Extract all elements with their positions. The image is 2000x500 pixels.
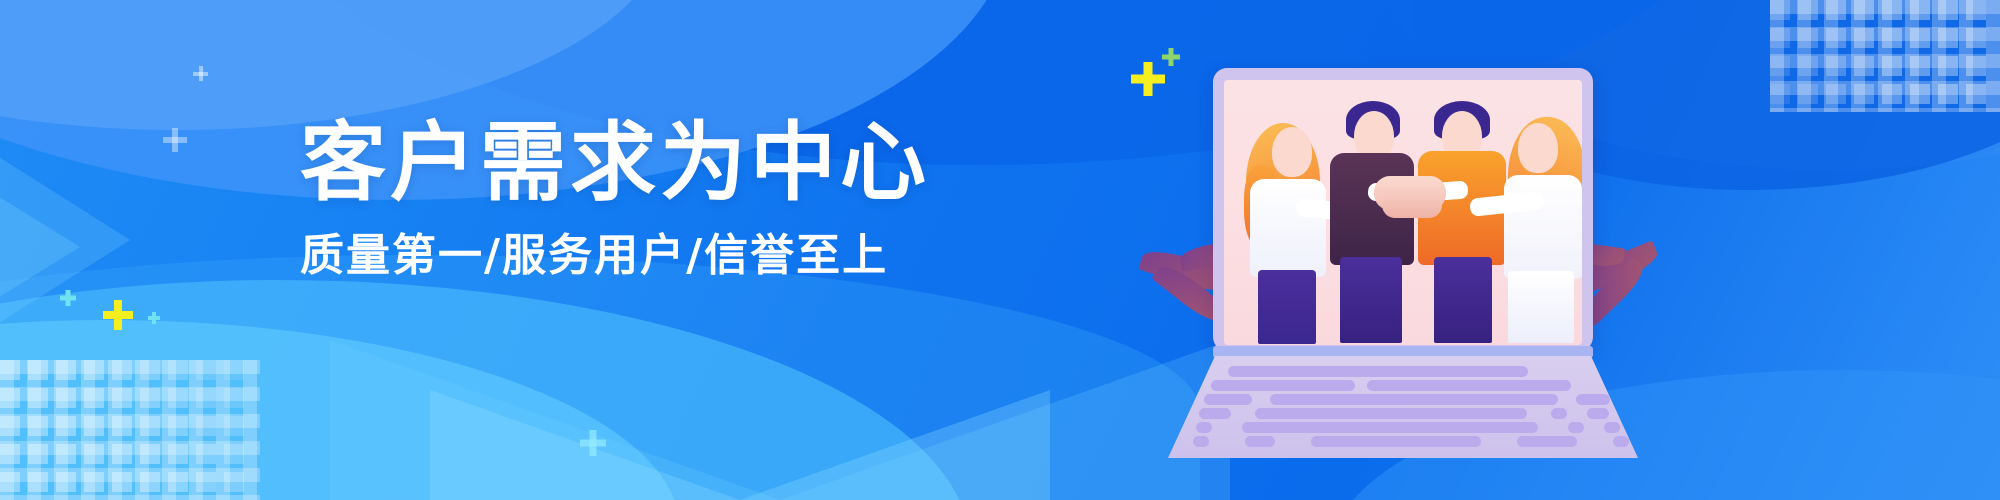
plus-green-laptop-small-icon [1162, 48, 1180, 66]
keyboard-key [1587, 408, 1609, 419]
keyboard-key [1551, 408, 1567, 419]
person-man-dark-shirt [1322, 95, 1426, 345]
plus-yellow-large-left-icon [103, 300, 133, 330]
keyboard-key [1270, 394, 1558, 405]
keyboard-key [1367, 380, 1571, 391]
headline-text: 客户需求为中心 [300, 120, 930, 206]
plus-cyan-tiny-left-icon [148, 312, 160, 324]
laptop-keyboard [1168, 356, 1638, 458]
person-woman-blonde-right [1492, 103, 1582, 345]
plus-white-small-top-icon [163, 128, 187, 152]
subheadline-text: 质量第一/服务用户/信誉至上 [300, 234, 930, 278]
keyboard-key [1576, 394, 1610, 405]
keyboard-key [1199, 408, 1231, 419]
keyboard-key [1311, 436, 1481, 447]
laptop-teamwork-illustration [1168, 68, 1638, 458]
copy-block: 客户需求为中心 质量第一/服务用户/信誉至上 [300, 120, 930, 278]
laptop-lid [1213, 68, 1593, 351]
promo-banner: 客户需求为中心 质量第一/服务用户/信誉至上 [0, 0, 2000, 500]
keyboard-key [1604, 422, 1620, 433]
plus-yellow-laptop-icon [1131, 62, 1165, 96]
keyboard-key [1613, 436, 1629, 447]
keyboard-key [1517, 436, 1577, 447]
keyboard-key [1255, 408, 1527, 419]
plus-cyan-bottom-mid-icon [580, 430, 606, 456]
keyboard-key [1245, 436, 1275, 447]
keyboard-key [1568, 422, 1584, 433]
laptop-screen [1224, 80, 1582, 345]
laptop-base [1168, 346, 1638, 458]
plus-cyan-small-left-icon [60, 290, 76, 306]
plus-white-mid-top-icon [193, 66, 208, 81]
keyboard-key [1196, 422, 1212, 433]
keyboard-key [1228, 366, 1528, 377]
keyboard-key [1211, 380, 1355, 391]
keyboard-key [1204, 394, 1252, 405]
stacked-hands-icon-2 [1382, 192, 1442, 218]
keyboard-key [1242, 422, 1538, 433]
keyboard-key [1193, 436, 1209, 447]
